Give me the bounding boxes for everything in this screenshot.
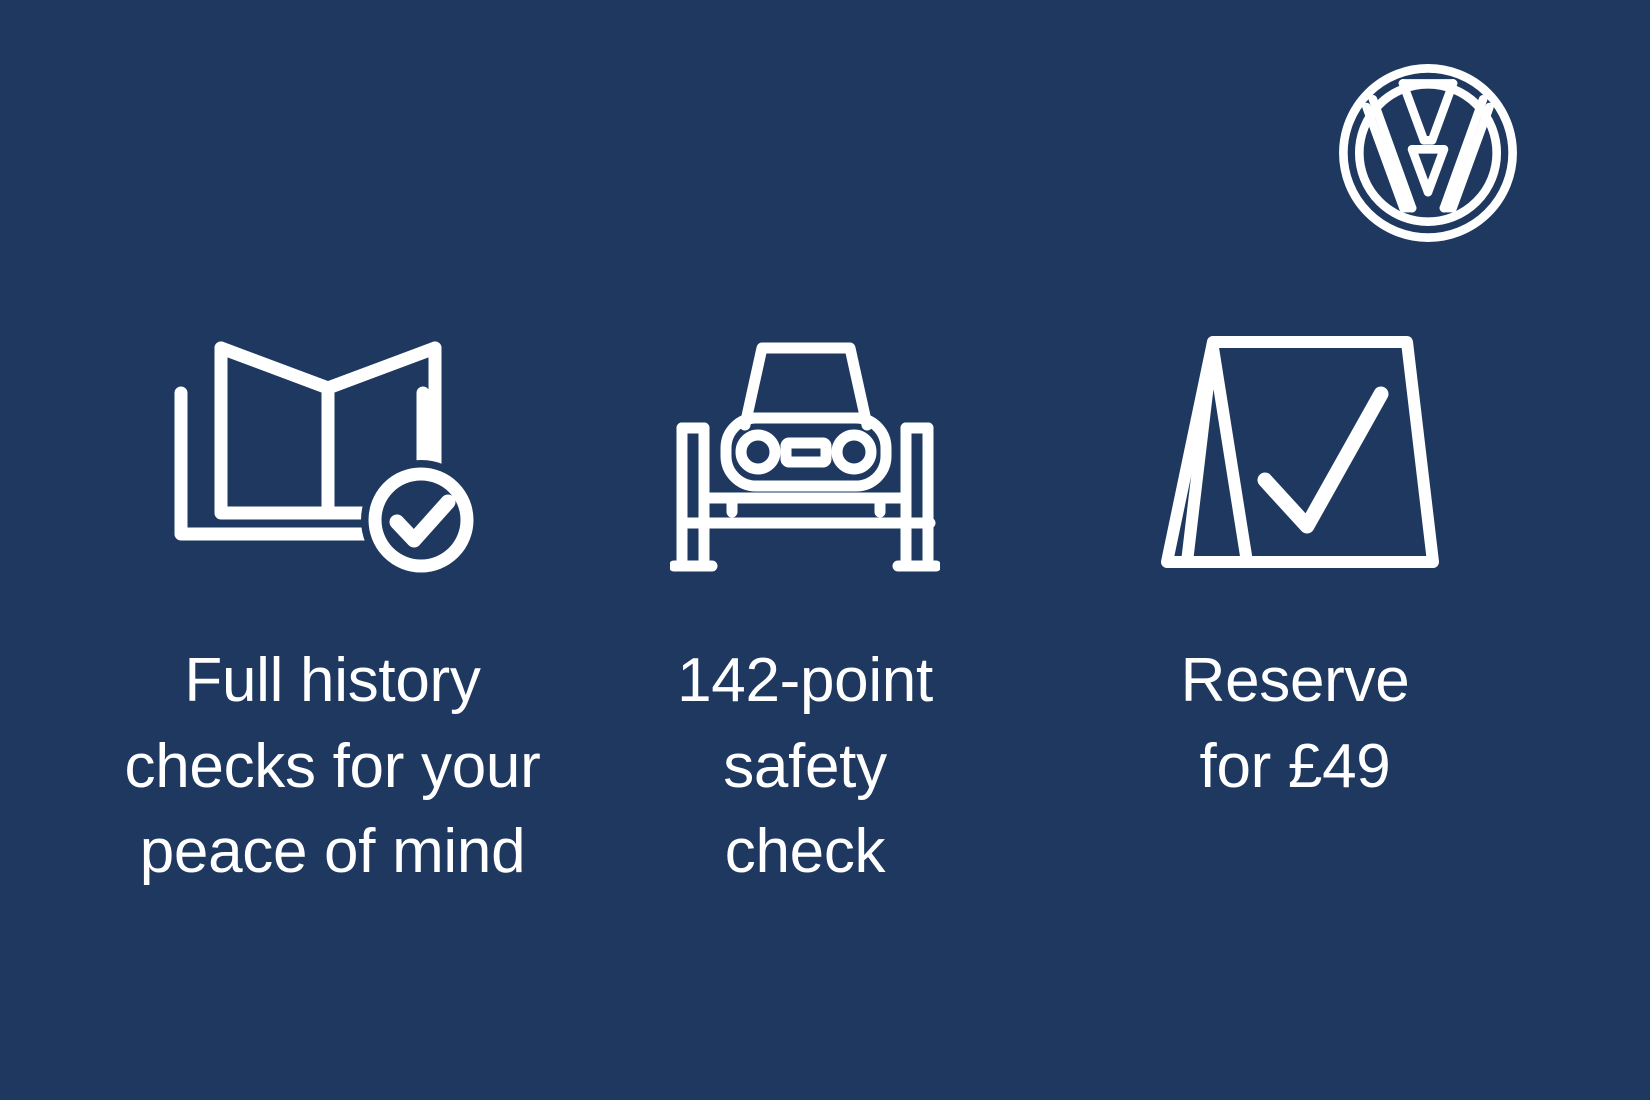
- features-row: Full history checks for your peace of mi…: [0, 330, 1650, 895]
- car-on-vehicle-lift-icon: [670, 330, 940, 600]
- open-book-icon-glyph: [173, 330, 493, 580]
- volkswagen-logo: [1337, 62, 1519, 244]
- open-book-with-check-badge-icon: [173, 330, 493, 600]
- tent-card-with-check-icon: [1145, 330, 1445, 600]
- check-badge-icon: [361, 460, 481, 580]
- feature-reserve-for-49: Reserve for £49: [1120, 330, 1470, 809]
- feature-full-history-checks: Full history checks for your peace of mi…: [55, 330, 610, 895]
- vehicle-lift-icon-glyph: [670, 330, 940, 580]
- feature-142-point-safety-check: 142-point safety check: [620, 330, 990, 895]
- feature-caption: 142-point safety check: [677, 638, 933, 895]
- tent-card-icon-glyph: [1145, 330, 1445, 580]
- feature-caption: Full history checks for your peace of mi…: [125, 638, 541, 895]
- feature-caption: Reserve for £49: [1181, 638, 1410, 809]
- checkmark-icon: [1265, 394, 1381, 526]
- volkswagen-logo-glyph: [1337, 62, 1519, 244]
